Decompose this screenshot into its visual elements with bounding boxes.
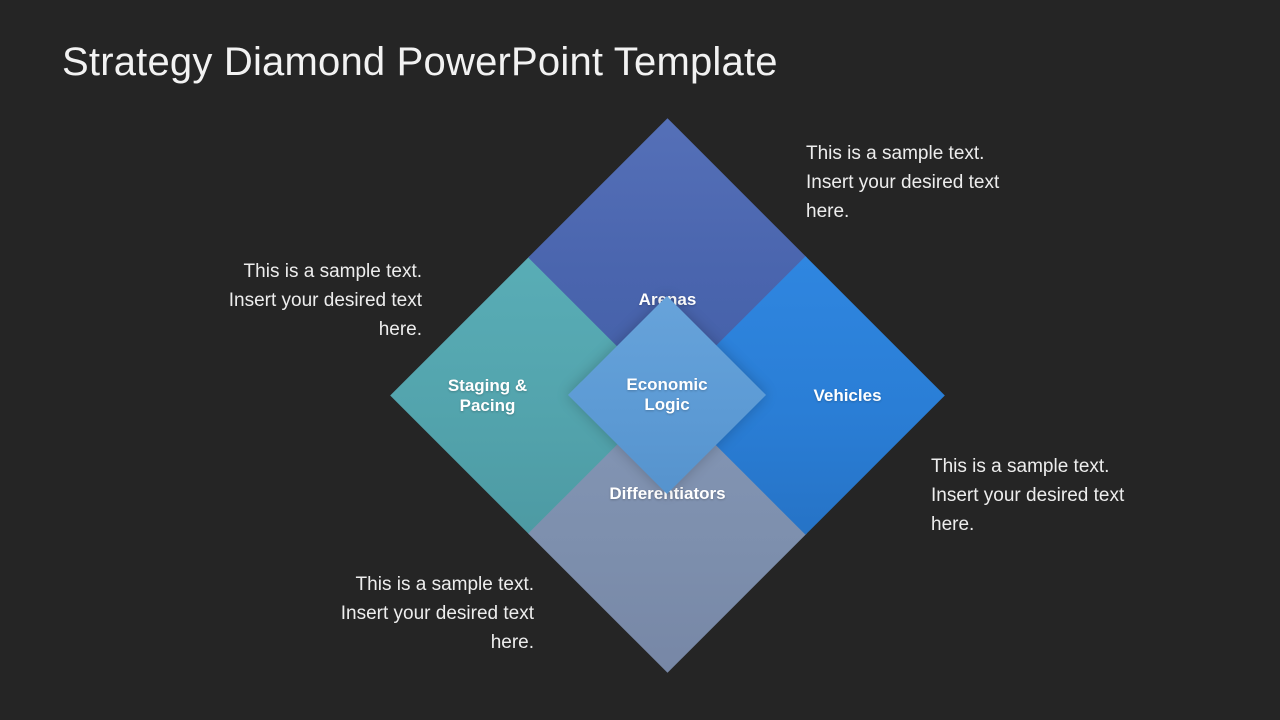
caption-arenas: This is a sample text. Insert your desir… (806, 139, 1054, 226)
caption-staging-pacing: This is a sample text. Insert your desir… (168, 257, 422, 344)
caption-vehicles: This is a sample text. Insert your desir… (931, 452, 1181, 539)
caption-differentiators: This is a sample text. Insert your desir… (278, 570, 534, 657)
slide-canvas: Strategy Diamond PowerPoint Template Sta… (0, 0, 1280, 720)
diamond-label-staging-pacing: Staging & Pacing (447, 375, 526, 415)
strategy-diamond-diagram: Staging & Pacing Differentiators Arenas … (0, 0, 1280, 720)
diamond-label-economic-logic: Economic Logic (626, 375, 707, 415)
diamond-label-vehicles: Vehicles (813, 385, 881, 405)
